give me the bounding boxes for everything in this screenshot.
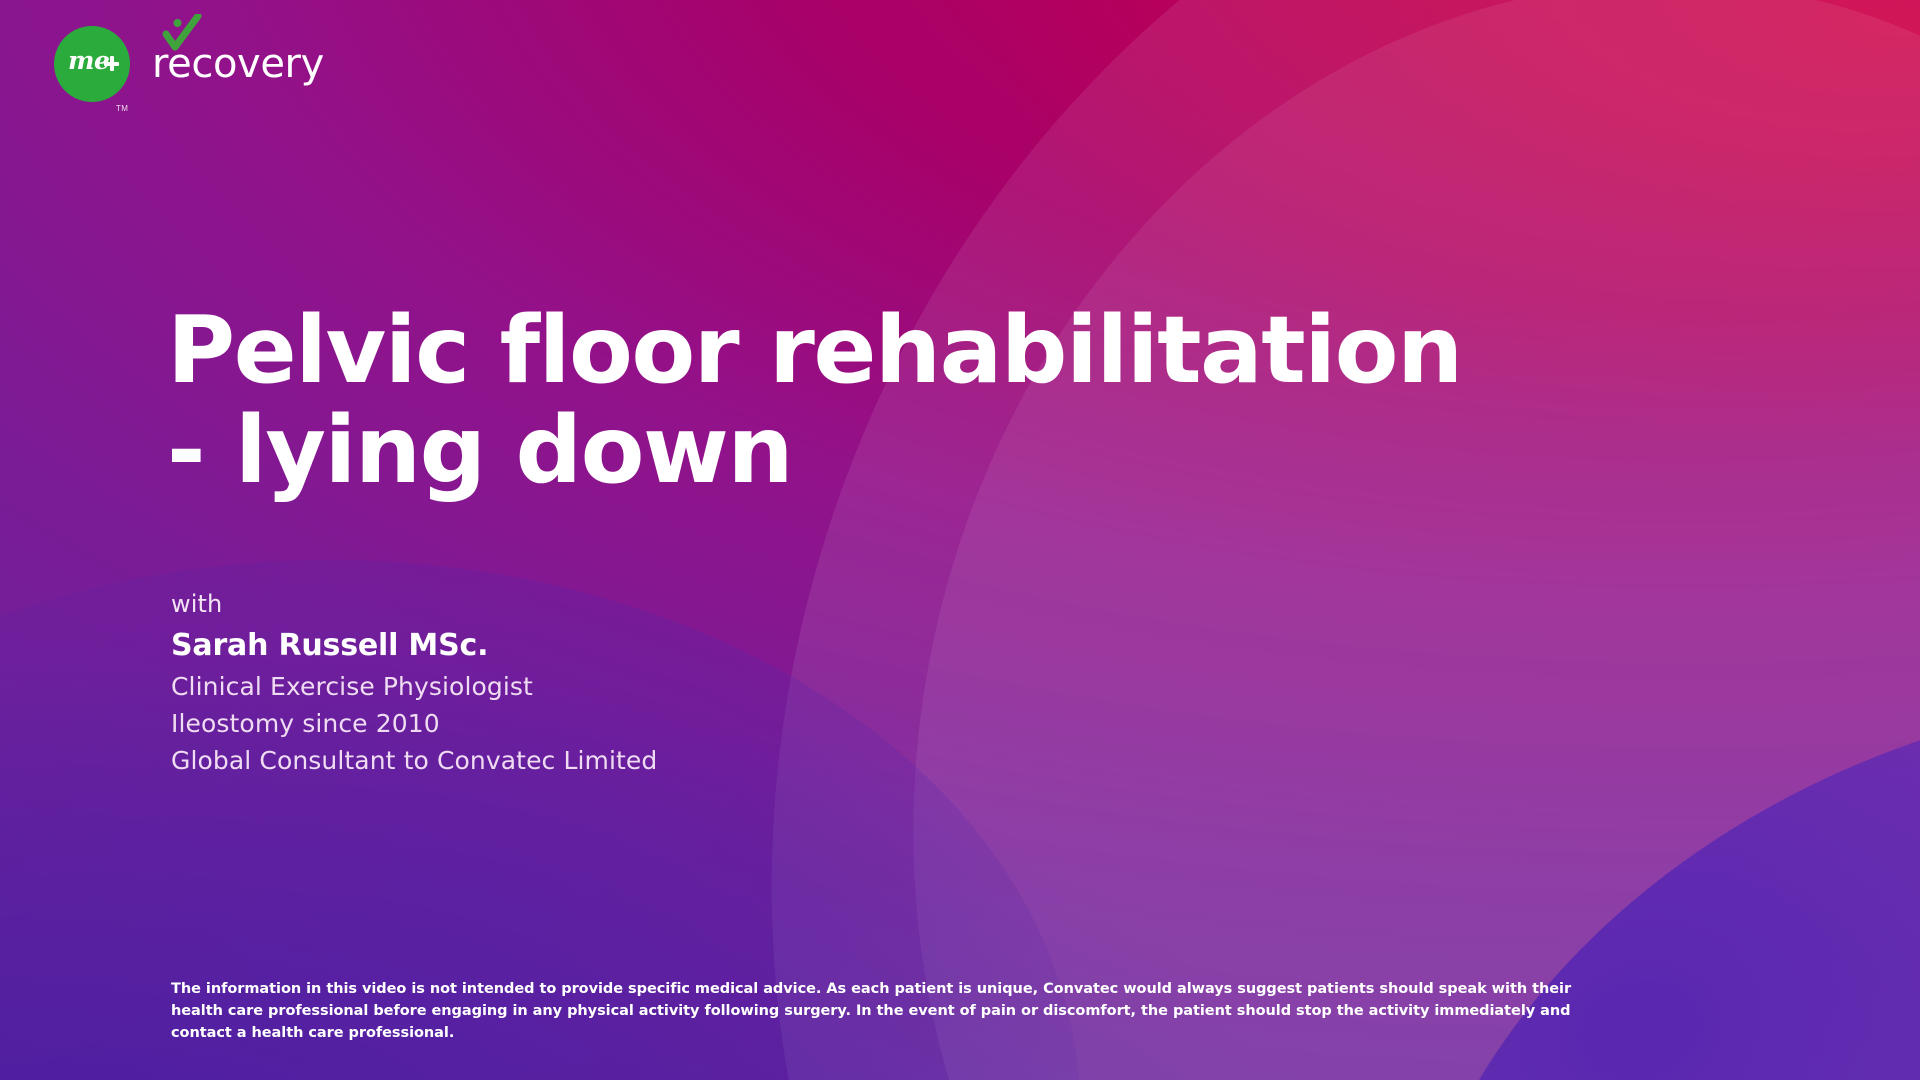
background-gradient-top-right bbox=[0, 0, 1920, 1080]
decorative-curve-outer bbox=[502, 0, 1920, 1080]
green-check-icon bbox=[160, 14, 204, 54]
presenter-role-2: Ileostomy since 2010 bbox=[171, 705, 657, 742]
title-line-1: Pelvic floor rehabilitation bbox=[167, 300, 1462, 400]
presenter-name: Sarah Russell MSc. bbox=[171, 624, 657, 668]
title-line-2: - lying down bbox=[167, 400, 1462, 500]
background-gradient-bottom-left bbox=[0, 0, 1920, 1080]
decorative-curve-inner bbox=[765, 0, 1920, 1080]
medical-disclaimer: The information in this video is not int… bbox=[171, 978, 1601, 1044]
presentation-slide: me TM recovery Pelvic floor rehabilitati… bbox=[0, 0, 1920, 1080]
slide-title: Pelvic floor rehabilitation - lying down bbox=[167, 300, 1462, 500]
presenter-role-1: Clinical Exercise Physiologist bbox=[171, 668, 657, 705]
me-plus-mark-icon: me TM bbox=[54, 26, 130, 102]
brand-logo: me TM recovery bbox=[54, 26, 324, 102]
plus-symbol-icon bbox=[104, 56, 119, 71]
presenter-credits: with Sarah Russell MSc. Clinical Exercis… bbox=[171, 588, 657, 779]
trademark-mark: TM bbox=[116, 104, 128, 113]
presenter-role-3: Global Consultant to Convatec Limited bbox=[171, 742, 657, 779]
with-label: with bbox=[171, 588, 657, 620]
